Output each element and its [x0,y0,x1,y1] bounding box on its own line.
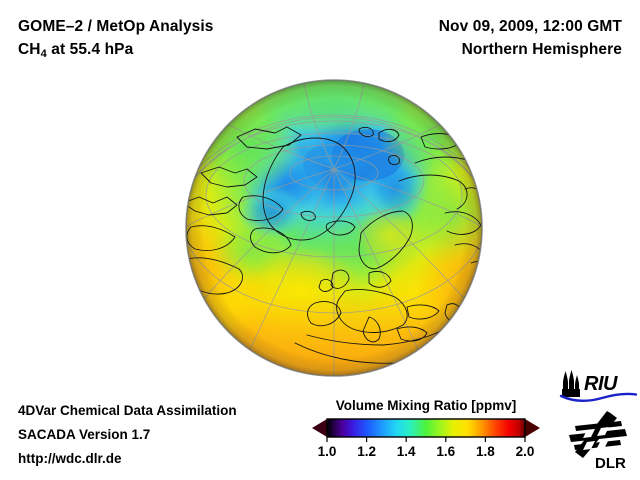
globe-field [183,77,485,379]
website-url[interactable]: http://wdc.dlr.de [18,451,122,466]
colorbar-gradient [327,419,525,437]
colorbar: Volume Mixing Ratio [ppmv] 1.01.21.41.61… [312,398,540,462]
method-label: 4DVar Chemical Data Assimilation [18,403,237,418]
species-prefix: CH [18,41,41,58]
species-suffix: at 55.4 hPa [47,41,134,58]
colorbar-under-arrow [312,419,327,437]
version-label: SACADA Version 1.7 [18,427,150,442]
colorbar-title: Volume Mixing Ratio [ppmv] [312,398,540,413]
globe-map [183,77,485,379]
figure-canvas: GOME–2 / MetOp Analysis CH4 at 55.4 hPa … [0,0,640,480]
riu-dome-icon [562,370,580,397]
riu-logo: RIU [558,369,638,403]
dlr-wordmark: DLR [595,455,626,471]
hemisphere-label: Northern Hemisphere [462,41,622,59]
species-level-label: CH4 at 55.4 hPa [18,41,133,60]
dlr-logo: DLR [565,409,637,471]
colorbar-tick-label: 1.6 [436,444,455,459]
timestamp-label: Nov 09, 2009, 12:00 GMT [439,18,622,36]
colorbar-tick-label: 1.4 [397,444,416,459]
page-title: GOME–2 / MetOp Analysis [18,18,214,36]
dlr-mark-icon [569,411,627,461]
globe-svg [183,77,485,379]
colorbar-over-arrow [525,419,540,437]
colorbar-tick-labels: 1.01.21.41.61.82.0 [312,444,540,462]
colorbar-ticks [327,437,525,442]
colorbar-tick-label: 1.8 [476,444,495,459]
colorbar-tick-label: 1.2 [357,444,376,459]
colorbar-tick-label: 2.0 [516,444,535,459]
colorbar-tick-label: 1.0 [318,444,337,459]
colorbar-swatch [312,417,540,443]
riu-wordmark: RIU [584,373,618,395]
globe-limb-shadow [186,80,482,376]
